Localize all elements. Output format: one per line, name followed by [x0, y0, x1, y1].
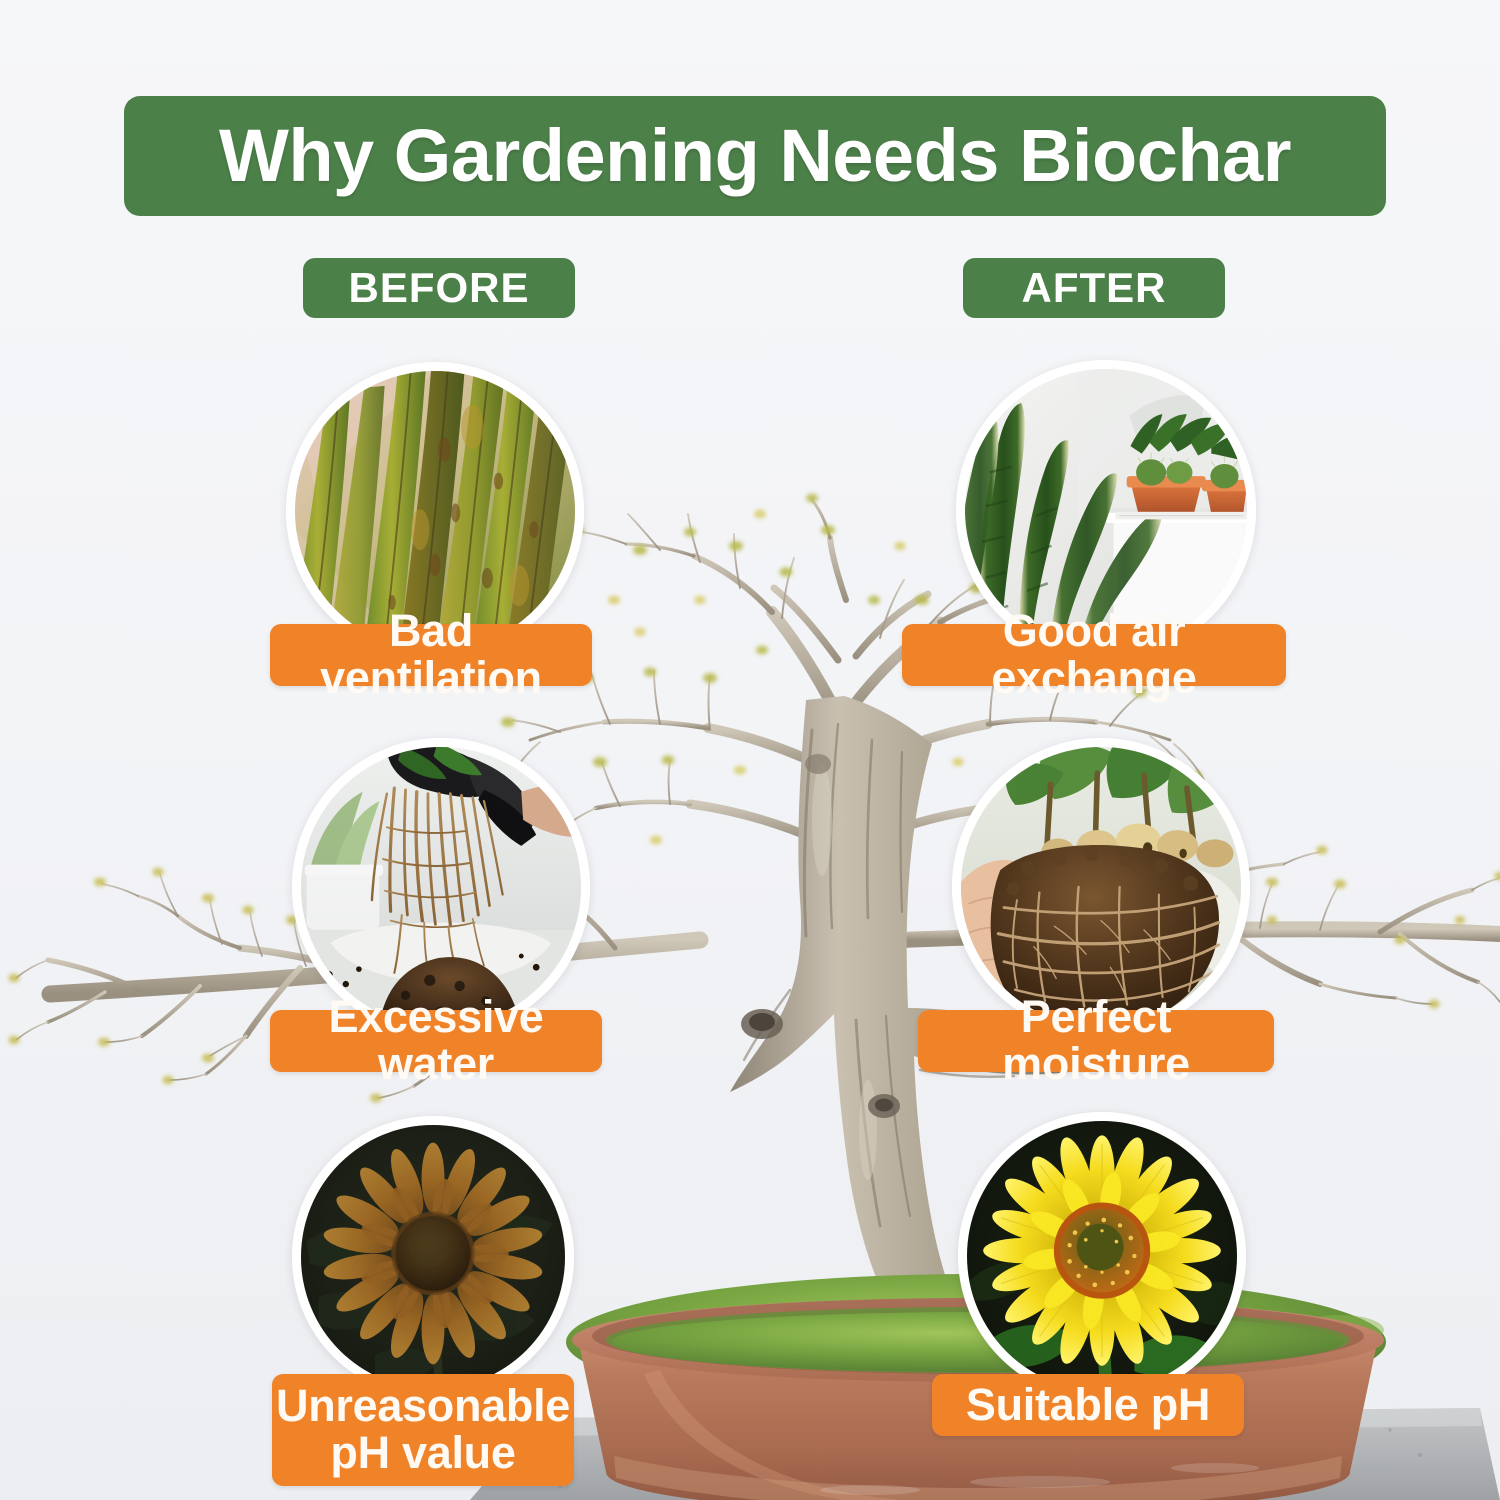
after-column-label: AFTER: [963, 258, 1225, 318]
healthy-root-ball-photo-inner: [961, 747, 1241, 1027]
label-perfect-moisture-text: Perfect moisture: [936, 994, 1256, 1088]
label-good-air-exchange: Good air exchange: [902, 624, 1286, 686]
waterlogged-roots-photo-inner: [301, 747, 581, 1027]
label-unreasonable-ph-value-text: Unreasonable pH value: [276, 1383, 570, 1477]
bonsai-tree-image: [0, 300, 1500, 1500]
after-label-text: AFTER: [1022, 267, 1167, 309]
infographic-canvas: Why Gardening Needs Biochar BEFORE AFTER: [0, 0, 1500, 1500]
before-column-label: BEFORE: [303, 258, 575, 318]
label-suitable-ph: Suitable pH: [932, 1374, 1244, 1436]
label-suitable-ph-text: Suitable pH: [966, 1382, 1210, 1429]
vibrant-sunflower-photo-inner: [967, 1121, 1237, 1391]
label-bad-ventilation: Bad ventilation: [270, 624, 592, 686]
label-excessive-water: Excessive water: [270, 1010, 602, 1072]
page-title: Why Gardening Needs Biochar: [219, 119, 1291, 193]
vibrant-sunflower-photo: [958, 1112, 1246, 1400]
label-excessive-water-text: Excessive water: [288, 994, 584, 1088]
dull-sunflower-photo-inner: [301, 1125, 565, 1389]
branch-network: [16, 500, 1500, 1098]
label-bad-ventilation-text: Bad ventilation: [288, 608, 574, 702]
label-good-air-exchange-text: Good air exchange: [920, 608, 1268, 702]
dull-sunflower-photo: [292, 1116, 574, 1398]
label-unreasonable-ph-value: Unreasonable pH value: [272, 1374, 574, 1486]
page-title-banner: Why Gardening Needs Biochar: [124, 96, 1386, 216]
label-perfect-moisture: Perfect moisture: [918, 1010, 1274, 1072]
before-label-text: BEFORE: [348, 267, 529, 309]
